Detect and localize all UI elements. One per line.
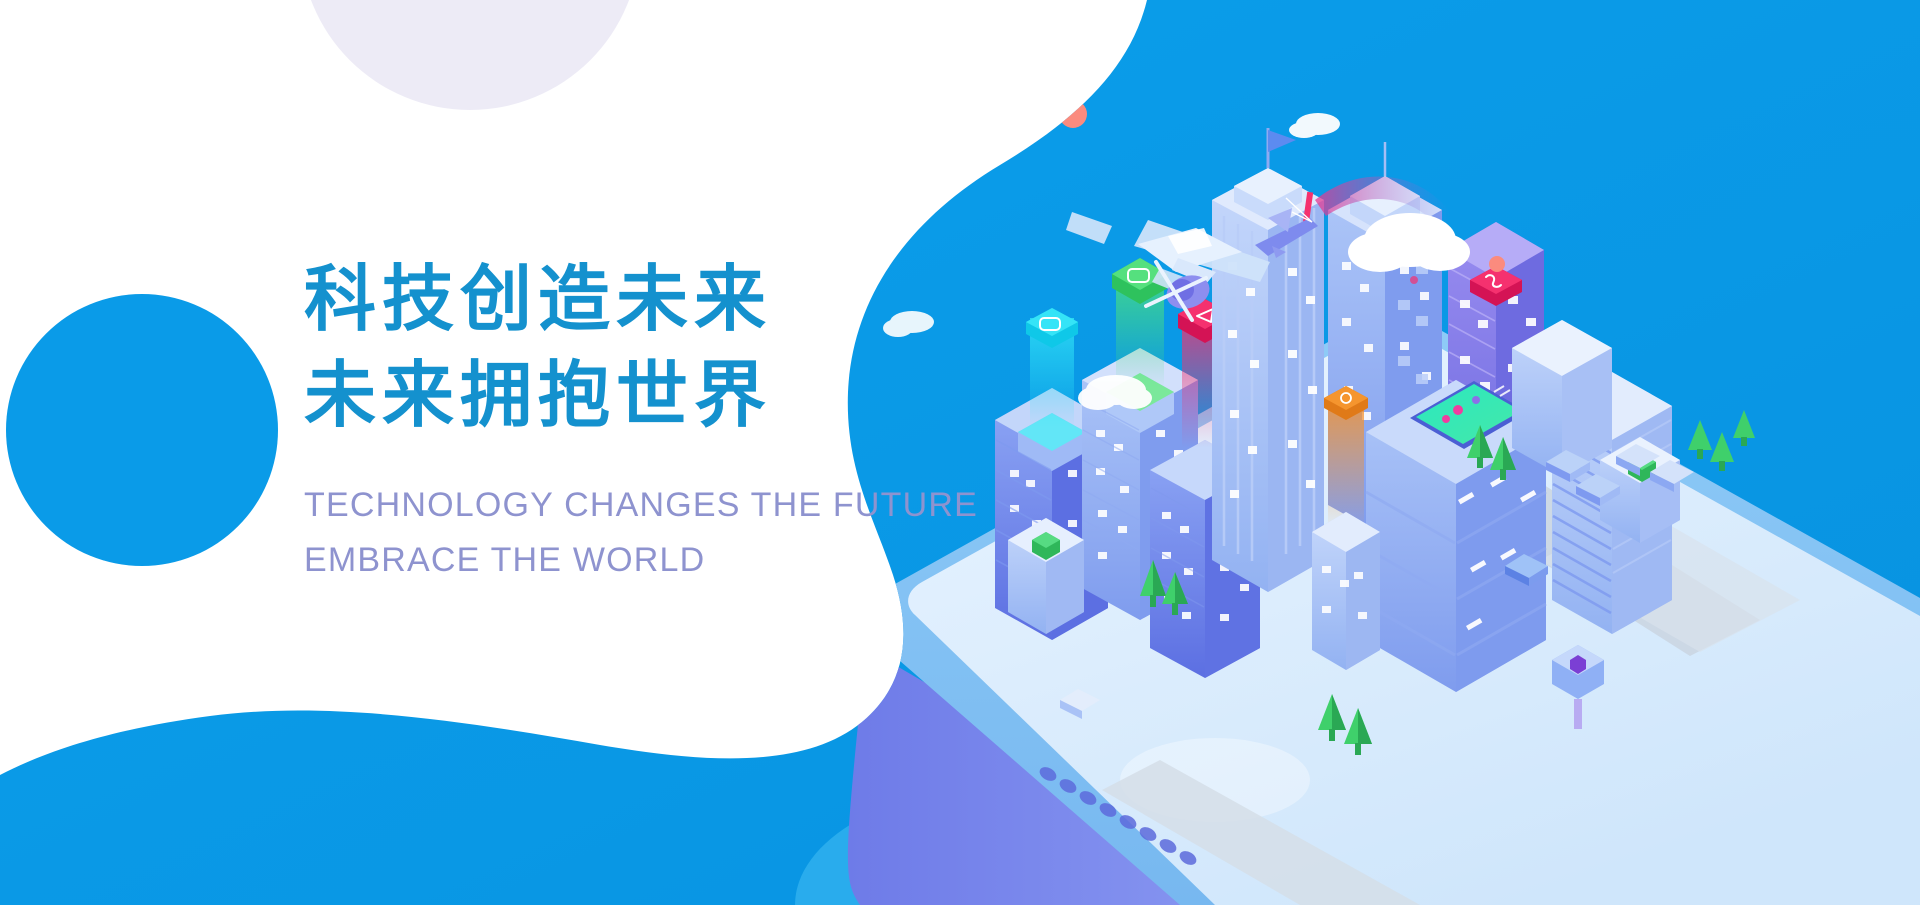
hero-banner: 科技创造未来 未来拥抱世界 TECHNOLOGY CHANGES THE FUT… [0,0,1920,905]
building-orange-base [1312,512,1380,670]
subtitle-line-1: TECHNOLOGY CHANGES THE FUTURE [304,478,924,533]
decorative-circle-lavender [300,0,640,110]
hero-text-block: 科技创造未来 未来拥抱世界 TECHNOLOGY CHANGES THE FUT… [304,252,924,588]
headline-line-2: 未来拥抱世界 [304,348,924,444]
dot-pink-right [1410,276,1418,284]
decorative-circle-blue [6,294,278,566]
background-illustration [0,0,1920,905]
dot-coral-large [1059,100,1087,128]
building-foreground-left [1008,518,1084,634]
headline-line-1: 科技创造未来 [304,252,924,348]
subtitle-line-2: EMBRACE THE WORLD [304,533,924,588]
subtitle-block: TECHNOLOGY CHANGES THE FUTURE EMBRACE TH… [304,478,924,588]
dot-coral-small [1489,256,1505,272]
